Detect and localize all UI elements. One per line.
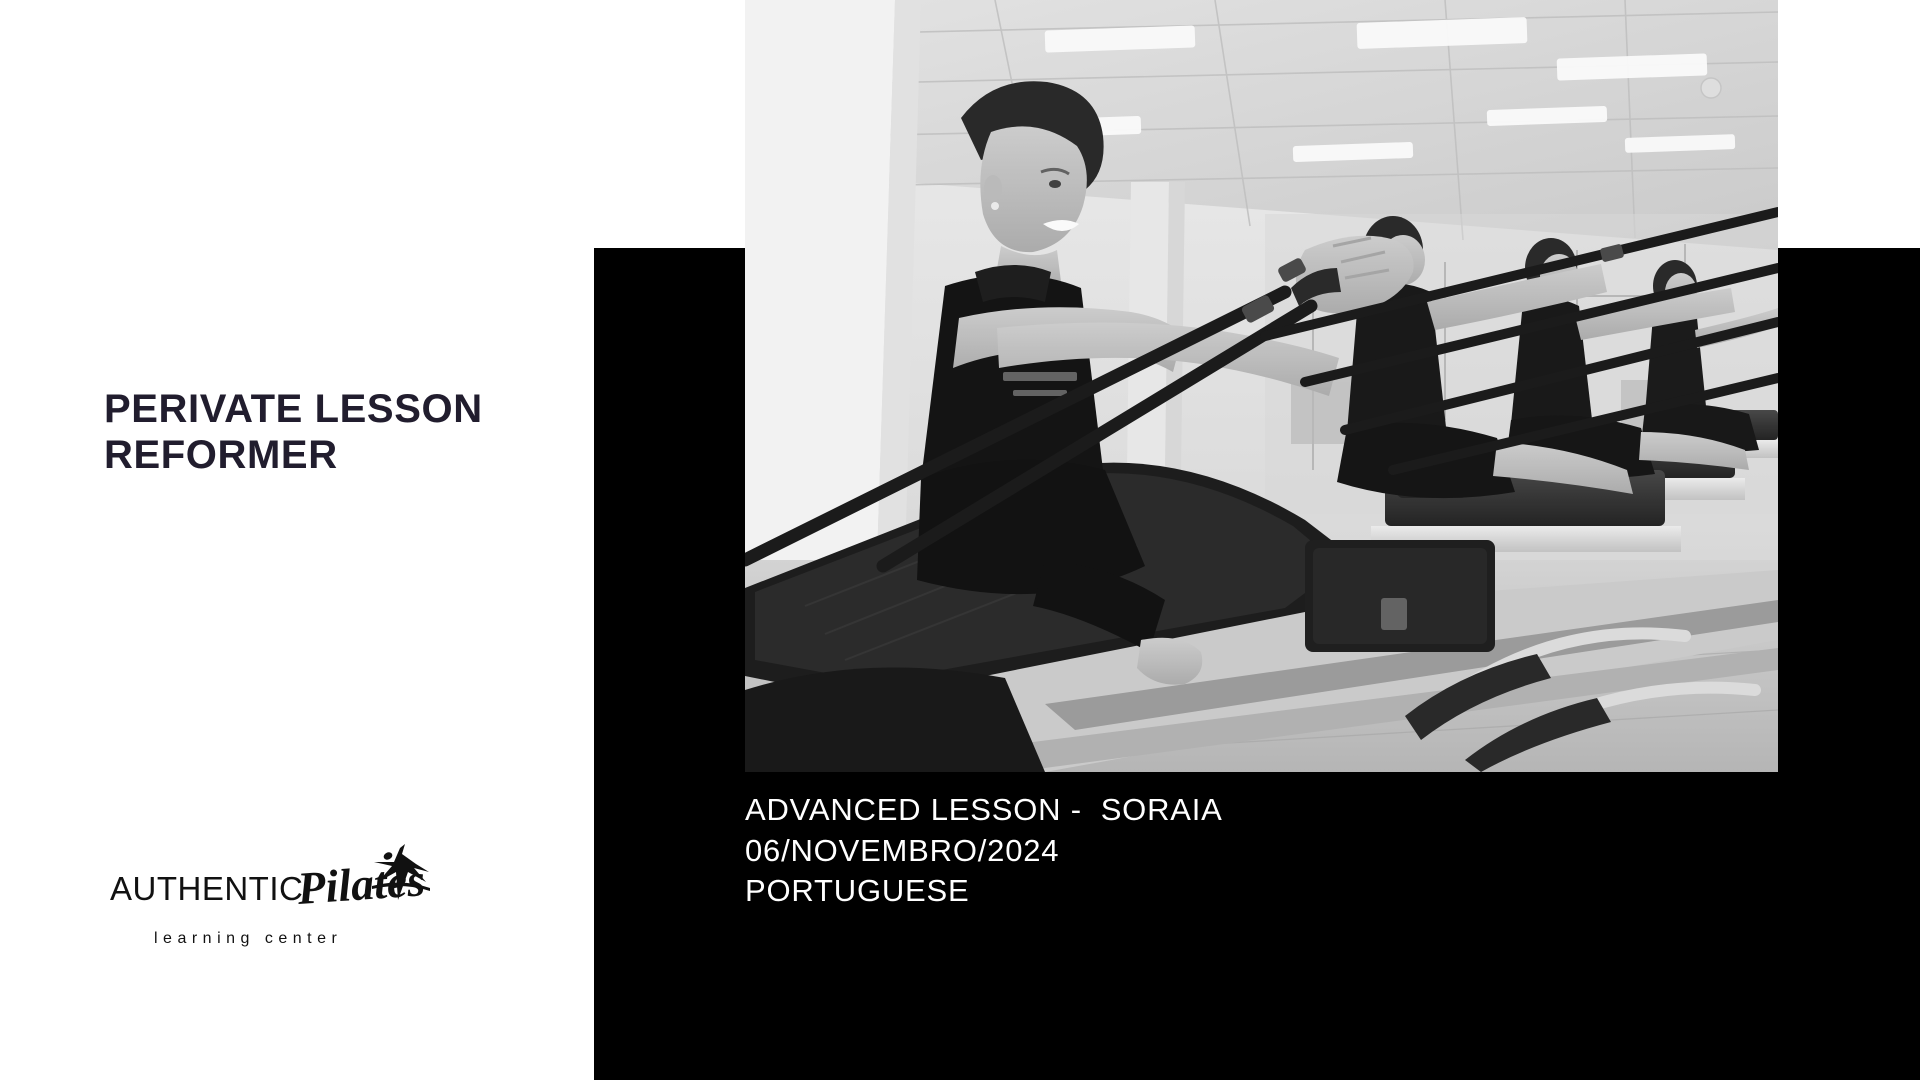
logo-pilates-script: Pilates [296,857,427,912]
caption-line-lesson: ADVANCED LESSON - SORAIA [745,790,1505,831]
logo-tagline: learning center [154,930,420,948]
logo-authentic-text: AUTHENTIC [110,872,303,905]
logo: AUTHENTIC Pilates learning center [110,862,420,972]
logo-wordmark: AUTHENTIC Pilates [110,862,420,918]
page-title: PERIVATE LESSON REFORMER [104,386,534,479]
pilates-class-photo [745,0,1778,772]
caption-line-language: PORTUGUESE [745,871,1505,912]
caption-block: ADVANCED LESSON - SORAIA 06/NOVEMBRO/202… [745,790,1505,912]
slide-canvas: PERIVATE LESSON REFORMER AUTHENTIC Pilat… [0,0,1920,1080]
caption-line-date: 06/NOVEMBRO/2024 [745,831,1505,872]
